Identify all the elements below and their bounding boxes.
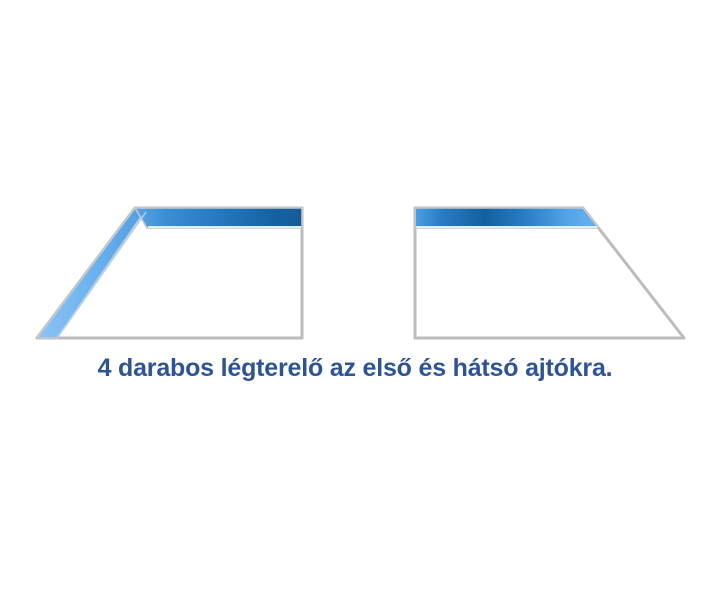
rear-door-deflector-top xyxy=(415,208,599,228)
front-door-window-group xyxy=(37,208,302,338)
rear-door-window-group xyxy=(415,208,684,338)
caption-text: 4 darabos légterelő az első és hátsó ajt… xyxy=(0,352,710,384)
front-door-deflector-top xyxy=(135,208,302,228)
product-illustration xyxy=(0,0,710,613)
